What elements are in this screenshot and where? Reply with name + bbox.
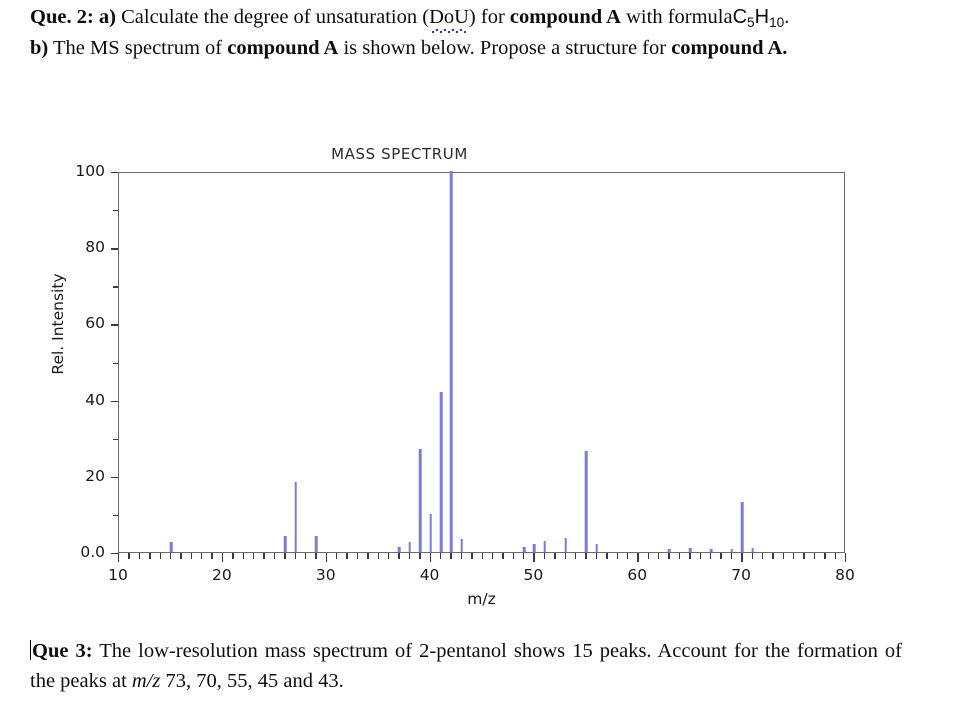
spectrum-peak [730, 549, 733, 552]
x-axis-major-tick [222, 553, 223, 562]
spectrum-peak [419, 449, 422, 552]
x-axis-minor-tick [170, 553, 171, 559]
x-axis-minor-tick [440, 553, 441, 559]
formula-hydrogen: H [755, 6, 769, 28]
question-3-text-1: The low-resolution mass spectrum of 2-pe… [30, 640, 902, 692]
x-axis-minor-tick [201, 553, 202, 559]
x-axis-major-tick [326, 553, 327, 562]
x-axis-tick-label: 70 [711, 566, 771, 584]
x-axis-minor-tick [388, 553, 389, 559]
spectrum-peak [544, 541, 547, 552]
question-3-line: Que 3: The low-resolution mass spectrum … [30, 636, 902, 696]
question-2-part-b: b) The MS spectrum of compound A is show… [30, 33, 902, 63]
x-axis-minor-tick [357, 553, 358, 559]
x-axis-minor-tick [139, 553, 140, 559]
question-2-part-a: Que. 2: a) Calculate the degree of unsat… [30, 2, 902, 33]
question-3-mz-italic: m/z [132, 670, 160, 692]
spectrum-peak [668, 549, 671, 552]
spectrum-peak [689, 548, 692, 552]
x-axis-minor-tick [793, 553, 794, 559]
x-axis-major-tick [430, 553, 431, 562]
spectrum-peak [294, 482, 297, 552]
x-axis-minor-tick [346, 553, 347, 559]
x-axis-minor-tick [336, 553, 337, 559]
y-axis-tick-label: 20 [49, 467, 105, 485]
x-axis-minor-tick [668, 553, 669, 559]
x-axis-minor-tick [253, 553, 254, 559]
x-axis-minor-tick [450, 553, 451, 559]
spectrum-peak [523, 547, 526, 552]
x-axis-minor-tick [502, 553, 503, 559]
question-3-text-2: 73, 70, 55, 45 and 43. [166, 670, 344, 692]
x-axis-minor-tick [720, 553, 721, 559]
spectrum-peak [284, 536, 287, 552]
question-2-part-a-text-3: with formula [626, 6, 732, 28]
spectrum-peak [429, 514, 432, 552]
x-axis-minor-tick [824, 553, 825, 559]
x-axis-minor-tick [211, 553, 212, 559]
x-axis-minor-tick [315, 553, 316, 559]
x-axis-minor-tick [814, 553, 815, 559]
question-2-part-a-text-1: Calculate the degree of unsaturation ( [121, 6, 429, 28]
x-axis-minor-tick [263, 553, 264, 559]
question-2-part-a-label: a) [99, 6, 116, 28]
x-axis-minor-tick [243, 553, 244, 559]
question-2-block: Que. 2: a) Calculate the degree of unsat… [30, 2, 902, 63]
molecular-formula: C5H10 [733, 6, 785, 28]
x-axis-minor-tick [658, 553, 659, 559]
x-axis-tick-label: 10 [88, 566, 148, 584]
x-axis-minor-tick [461, 553, 462, 559]
question-2-part-b-label: b) [30, 37, 48, 59]
x-axis-minor-tick [835, 553, 836, 559]
x-axis-minor-tick [284, 553, 285, 559]
x-axis-title: m/z [118, 590, 845, 608]
question-2-label: Que. 2: [30, 6, 94, 28]
x-axis-minor-tick [471, 553, 472, 559]
x-axis-minor-tick [513, 553, 514, 559]
x-axis-major-tick [637, 553, 638, 562]
x-axis-minor-tick [762, 553, 763, 559]
x-axis-tick-label: 40 [400, 566, 460, 584]
x-axis-minor-tick [710, 553, 711, 559]
question-3-block: Que 3: The low-resolution mass spectrum … [30, 636, 902, 696]
formula-hydrogen-count: 10 [769, 15, 784, 30]
x-axis-minor-tick [149, 553, 150, 559]
x-axis-minor-tick [232, 553, 233, 559]
x-axis-minor-tick [565, 553, 566, 559]
y-axis-tick-label: 100 [49, 162, 105, 180]
question-2-part-b-compound-a-bold: compound A [227, 37, 338, 59]
x-axis-minor-tick [128, 553, 129, 559]
x-axis-tick-label: 60 [607, 566, 667, 584]
x-axis-minor-tick [606, 553, 607, 559]
x-axis-minor-tick [585, 553, 586, 559]
x-axis-minor-tick [419, 553, 420, 559]
x-axis-minor-tick [274, 553, 275, 559]
x-axis-minor-tick [627, 553, 628, 559]
x-axis-minor-tick [180, 553, 181, 559]
mass-spectrum-figure: MASS SPECTRUM Rel. Intensity m/z 1020304… [0, 140, 967, 620]
x-axis-minor-tick [617, 553, 618, 559]
spectrum-peak [595, 544, 598, 552]
spectrum-peaks-layer [119, 173, 844, 552]
spellcheck-underlined-word: DoU [429, 2, 469, 32]
y-axis-major-tick [111, 553, 119, 554]
spectrum-peak [440, 392, 443, 552]
x-axis-minor-tick [378, 553, 379, 559]
x-axis-minor-tick [295, 553, 296, 559]
question-2-part-b-text-2: is shown below. Propose a structure for [343, 37, 666, 59]
spectrum-peak [710, 549, 713, 552]
formula-carbon: C [733, 6, 747, 28]
y-axis-tick-label: 0.0 [49, 543, 105, 561]
formula-carbon-count: 5 [747, 15, 755, 30]
x-axis-major-tick [741, 553, 742, 562]
spectrum-peak [398, 547, 401, 552]
x-axis-minor-tick [554, 553, 555, 559]
spectrum-peak [741, 502, 744, 552]
x-axis-minor-tick [160, 553, 161, 559]
spectrum-peak [170, 542, 173, 552]
x-axis-minor-tick [783, 553, 784, 559]
x-axis-tick-label: 30 [296, 566, 356, 584]
spectrum-peak [450, 171, 453, 552]
x-axis-minor-tick [731, 553, 732, 559]
x-axis-minor-tick [544, 553, 545, 559]
x-axis-minor-tick [482, 553, 483, 559]
question-3-label: Que 3: [32, 640, 93, 662]
y-axis-tick-label: 40 [49, 391, 105, 409]
x-axis-minor-tick [700, 553, 701, 559]
question-2-part-b-text-3: . [782, 37, 787, 59]
spectrum-peak [408, 542, 411, 552]
chart-title: MASS SPECTRUM [0, 145, 883, 163]
formula-period: . [784, 6, 789, 28]
x-axis-minor-tick [772, 553, 773, 559]
x-axis-minor-tick [409, 553, 410, 559]
y-axis-tick-label: 60 [49, 314, 105, 332]
x-axis-minor-tick [367, 553, 368, 559]
spectrum-peak [564, 538, 567, 552]
x-axis-minor-tick [752, 553, 753, 559]
x-axis-minor-tick [648, 553, 649, 559]
question-2-part-b-compound-a-bold-2: compound A [671, 37, 782, 59]
spectrum-peak [751, 548, 754, 552]
question-2-part-a-text-2: ) for [469, 6, 505, 28]
x-axis-minor-tick [679, 553, 680, 559]
text-cursor [30, 640, 31, 660]
question-2-compound-a-bold: compound A [510, 6, 621, 28]
x-axis-tick-label: 20 [192, 566, 252, 584]
x-axis-minor-tick [575, 553, 576, 559]
plot-area [118, 172, 845, 553]
x-axis-major-tick [845, 553, 846, 562]
x-axis-minor-tick [398, 553, 399, 559]
y-axis-tick-label: 80 [49, 238, 105, 256]
x-axis-minor-tick [523, 553, 524, 559]
x-axis-tick-label: 50 [503, 566, 563, 584]
spectrum-peak [585, 451, 588, 552]
x-axis-tick-label: 80 [815, 566, 875, 584]
question-2-part-b-text-1: The MS spectrum of [53, 37, 222, 59]
x-axis-minor-tick [803, 553, 804, 559]
spectrum-peak [460, 539, 463, 552]
x-axis-minor-tick [492, 553, 493, 559]
x-axis-major-tick [533, 553, 534, 562]
x-axis-minor-tick [191, 553, 192, 559]
spectrum-peak [315, 536, 318, 552]
x-axis-minor-tick [689, 553, 690, 559]
x-axis-minor-tick [305, 553, 306, 559]
x-axis-minor-tick [596, 553, 597, 559]
spectrum-peak [533, 544, 536, 552]
